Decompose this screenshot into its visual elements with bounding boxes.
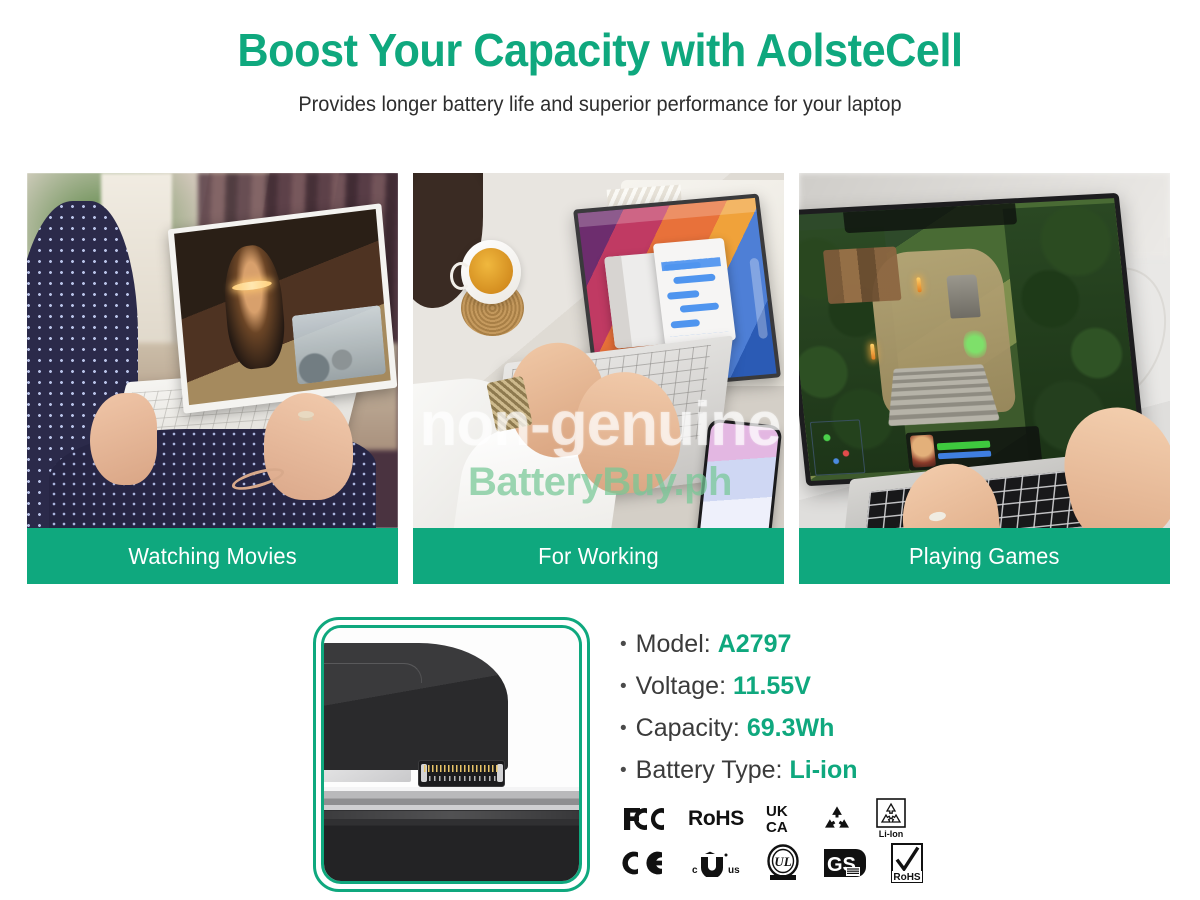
connector-lower-pins [424, 776, 499, 782]
svg-text:us: us [728, 865, 740, 876]
photo2-chat-bubbles [660, 257, 729, 337]
rohs-icon: RoHS [688, 807, 744, 831]
spec-value-capacity: 69.3Wh [747, 716, 835, 741]
spec-row-voltage: • Voltage: 11.55V [620, 674, 1040, 699]
spec-value-voltage: 11.55V [733, 674, 811, 699]
caption-label: For Working [538, 543, 659, 570]
photo2-bubble [663, 262, 701, 272]
photo2-dock [749, 258, 768, 339]
spec-label-voltage: Voltage: [636, 674, 726, 699]
photo3-tower [946, 275, 980, 319]
use-case-panel-playing-games[interactable]: Playing Games [799, 173, 1170, 584]
photo2-smartphone [696, 418, 783, 528]
battery-lower-body [324, 810, 579, 881]
caption-label: Playing Games [909, 543, 1060, 570]
battery-black-cell [324, 643, 508, 770]
certification-row-2: c us UL GS [622, 841, 922, 885]
bullet-icon: • [620, 677, 627, 696]
svg-text:c: c [692, 865, 698, 876]
photo1-ring [298, 411, 314, 418]
product-image-frame-inner [321, 625, 582, 884]
photo1-laptop-screen [168, 203, 398, 413]
photo1-movie-scenery [292, 305, 387, 384]
svg-text:UK: UK [766, 803, 788, 820]
photo-playing-games [799, 173, 1170, 528]
photo3-stone-steps [888, 364, 1000, 426]
li-ion-recycle-icon: Li-Ion [874, 798, 908, 840]
battery-cell-crease [324, 663, 423, 683]
spec-row-model: • Model: A2797 [620, 632, 1040, 657]
spec-row-battery-type: • Battery Type: Li-ion [620, 758, 1040, 783]
page-subtitle: Provides longer battery life and superio… [30, 93, 1170, 117]
svg-text:UL: UL [774, 854, 791, 869]
connector-gold-pins [424, 765, 499, 772]
caption-bar-for-working: For Working [413, 528, 784, 584]
spec-label-battery-type: Battery Type: [636, 758, 783, 783]
recycle-icon [822, 804, 852, 834]
photo2-bubble [673, 274, 715, 284]
photo2-phone-screen [699, 421, 780, 528]
svg-text:CA: CA [766, 819, 788, 836]
photo2-bubble [679, 303, 719, 313]
photo1-left-hand [90, 393, 157, 485]
battery-metal-strip [324, 787, 579, 812]
photo2-tea [469, 248, 514, 294]
photo3-hud-top [842, 204, 1017, 234]
use-case-panels: Watching Movies [27, 173, 1170, 584]
bullet-icon: • [620, 761, 627, 780]
bullet-icon: • [620, 635, 627, 654]
photo-for-working [413, 173, 784, 528]
battery-product-photo [324, 628, 579, 881]
use-case-panel-for-working[interactable]: For Working [413, 173, 784, 584]
caption-bar-watching-movies: Watching Movies [27, 528, 398, 584]
battery-body-sheen [324, 811, 579, 819]
culus-icon: c us [692, 849, 744, 877]
caption-label: Watching Movies [128, 543, 296, 570]
battery-ribbon-connector [418, 760, 505, 788]
caption-bar-playing-games: Playing Games [799, 528, 1170, 584]
certification-row-1: RoHS UK CA [622, 797, 922, 841]
spec-row-capacity: • Capacity: 69.3Wh [620, 716, 1040, 741]
spec-label-capacity: Capacity: [636, 716, 740, 741]
product-detail-section: • Model: A2797 • Voltage: 11.55V • Capac… [0, 612, 1200, 900]
photo3-minimap [809, 420, 864, 476]
ce-icon [622, 849, 670, 877]
rohs-check-icon: RoHS [890, 843, 924, 883]
photo2-bubble [667, 291, 700, 301]
spec-label-model: Model: [636, 632, 711, 657]
product-image-frame [313, 617, 590, 892]
photo3-buildings [823, 247, 901, 304]
photo2-window-front [652, 238, 735, 346]
banner-header: Boost Your Capacity with AolsteCell Prov… [0, 0, 1200, 117]
ul-icon: UL [766, 844, 800, 882]
photo2-bubble [670, 320, 699, 329]
page-title: Boost Your Capacity with AolsteCell [36, 26, 1164, 76]
spec-value-model: A2797 [718, 632, 792, 657]
fcc-icon [622, 806, 666, 832]
photo2-window-sidebar [604, 256, 632, 349]
photo1-movie-frame [174, 209, 391, 405]
use-case-panel-watching-movies[interactable]: Watching Movies [27, 173, 398, 584]
spec-value-battery-type: Li-ion [790, 758, 858, 783]
ukca-icon: UK CA [766, 802, 800, 836]
photo1-movie-character [221, 241, 288, 371]
svg-text:Li-Ion: Li-Ion [879, 829, 904, 839]
certification-badges: RoHS UK CA [622, 797, 922, 885]
photo3-hero-portrait [909, 435, 936, 468]
bullet-icon: • [620, 719, 627, 738]
spec-list: • Model: A2797 • Voltage: 11.55V • Capac… [620, 632, 1040, 800]
gs-icon: GS [822, 847, 868, 879]
svg-text:RoHS: RoHS [893, 872, 921, 883]
photo-watching-movies [27, 173, 398, 528]
